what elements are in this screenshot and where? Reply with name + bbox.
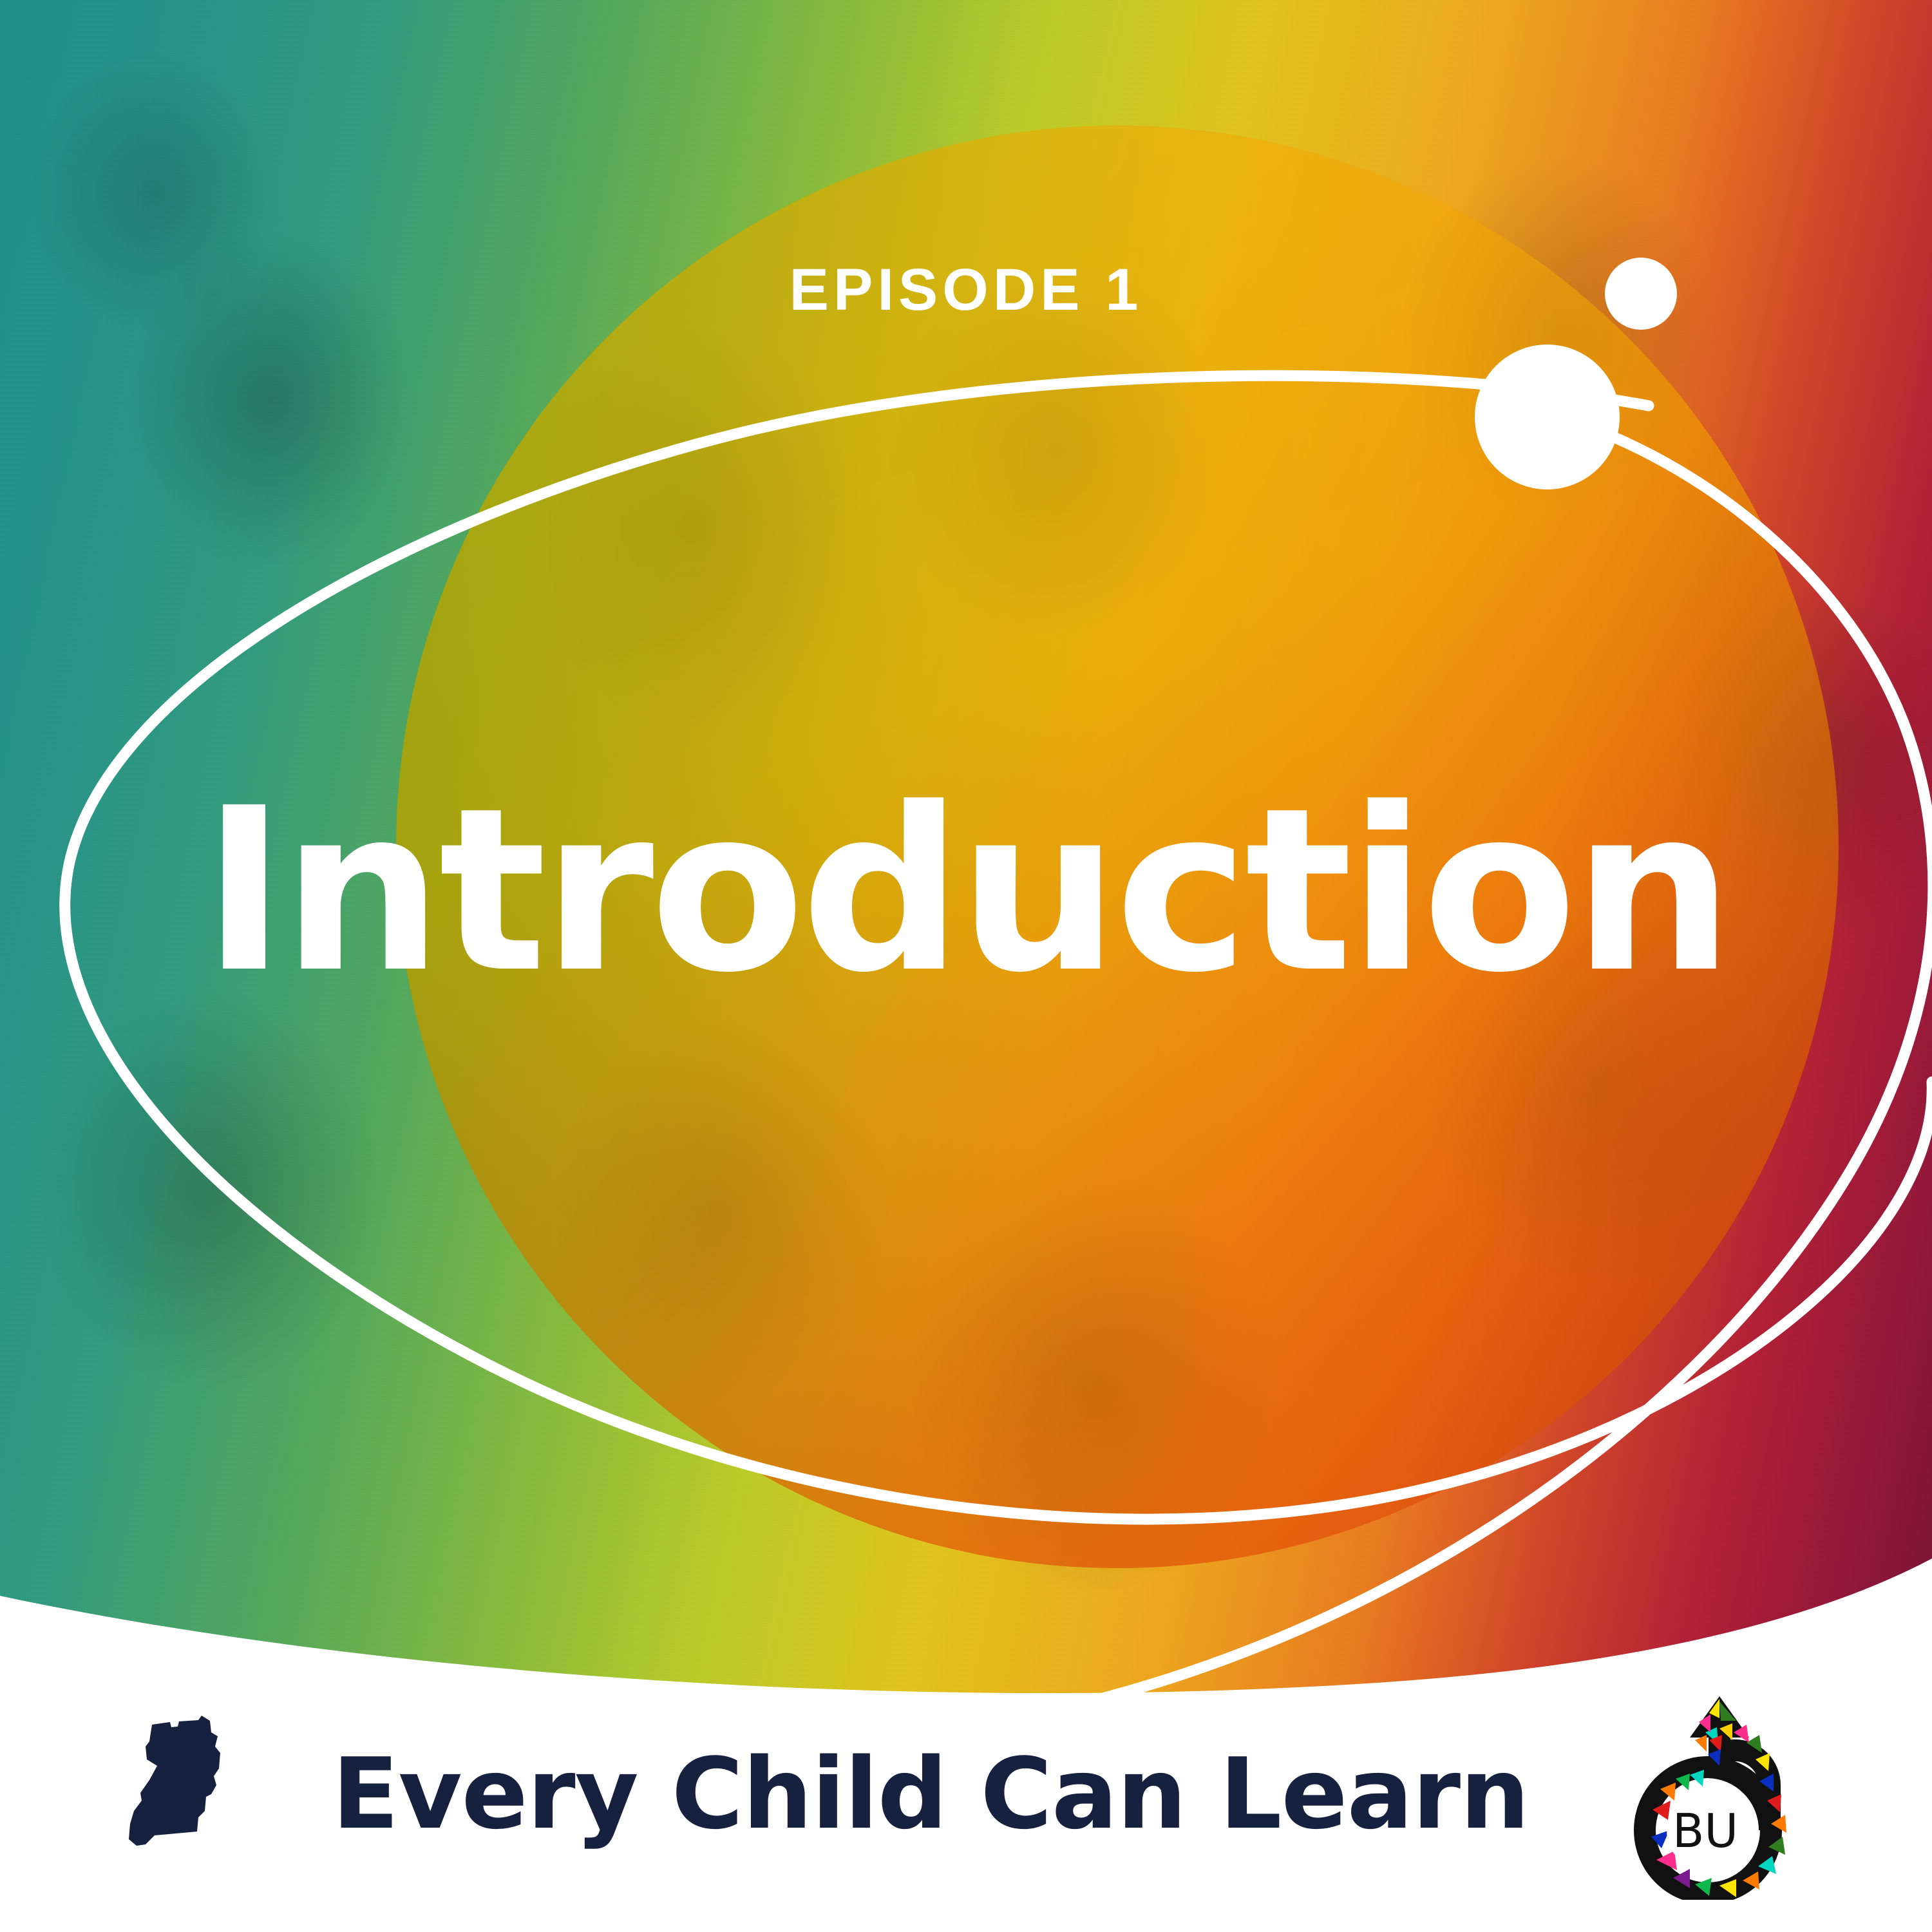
footer-content-row: Every Child Can Learn <box>0 1655 1932 1932</box>
building-tomorrow-spiral-arrow-logo: BU <box>1623 1687 1816 1900</box>
page-title: Introduction <box>0 778 1932 1003</box>
podcast-cover-art: EPISODE 1 Introduction Every Child Can L… <box>0 0 1932 1932</box>
logo-monogram: BU <box>1672 1804 1738 1858</box>
uganda-map-icon <box>116 1713 238 1874</box>
satellite-dot-large <box>1475 345 1620 489</box>
cover-footer: Every Child Can Learn <box>0 1520 1932 1932</box>
episode-label: EPISODE 1 <box>0 256 1932 324</box>
tagline: Every Child Can Learn <box>238 1737 1623 1851</box>
